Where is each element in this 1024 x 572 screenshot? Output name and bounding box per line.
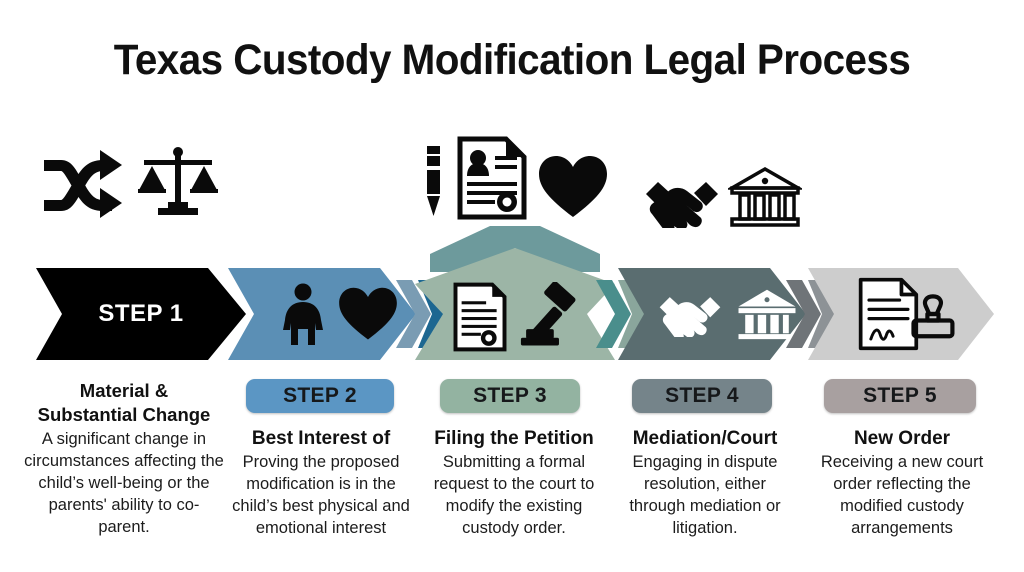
balance-scale-icon <box>136 144 220 220</box>
document-lines-icon <box>452 282 508 352</box>
step-5-description: Receiving a new court order reflecting t… <box>808 451 996 539</box>
step-4-top-icons <box>625 162 820 228</box>
step-4-heading: Mediation/Court <box>617 427 793 450</box>
step-5-band-content <box>808 268 1000 360</box>
step-1-band-content: STEP 1 <box>36 268 246 360</box>
handshake-icon <box>644 176 720 228</box>
step-2-description: Proving the proposed modification is in … <box>226 451 416 539</box>
heart-icon <box>337 286 399 342</box>
heart-icon <box>537 154 609 220</box>
step-2-band[interactable] <box>228 268 416 360</box>
signed-document-stamp-icon <box>855 276 959 352</box>
step-4-text: Mediation/Court Engaging in dispute reso… <box>617 427 793 539</box>
child-figure-icon <box>281 283 325 345</box>
step-3-text: Filing the Petition Submitting a formal … <box>424 427 604 539</box>
step-1-heading-line-2: Substantial Change <box>38 404 211 425</box>
step-3-top-icons <box>415 134 615 220</box>
step-2-pill-label: STEP 2 <box>283 384 357 408</box>
step-2-heading: Best Interest of <box>226 427 416 450</box>
step-4-description: Engaging in dispute resolution, either t… <box>617 451 793 539</box>
step-1-heading: Material & Substantial Change <box>24 379 224 427</box>
shuffle-arrows-icon <box>40 148 128 220</box>
step-1-text: Material & Substantial Change A signific… <box>24 379 224 538</box>
step-4-pill[interactable]: STEP 4 <box>632 379 772 413</box>
document-person-seal-icon <box>455 136 529 220</box>
step-1-description: A significant change in circumstances af… <box>24 428 224 538</box>
step-3-band[interactable] <box>415 248 615 360</box>
step-4-pill-label: STEP 4 <box>665 384 739 408</box>
step-5-pill[interactable]: STEP 5 <box>824 379 976 413</box>
step-5-text: New Order Receiving a new court order re… <box>808 427 996 539</box>
step-5-heading: New Order <box>808 427 996 450</box>
infographic-canvas: Texas Custody Modification Legal Process <box>0 0 1024 572</box>
step-3-band-content <box>415 274 615 360</box>
step-2-pill[interactable]: STEP 2 <box>246 379 394 413</box>
gavel-icon <box>514 282 578 352</box>
step-4-band[interactable] <box>618 268 806 360</box>
pen-icon <box>421 142 447 220</box>
step-1-band[interactable]: STEP 1 <box>36 268 246 360</box>
step-3-heading: Filing the Petition <box>424 427 604 450</box>
step-3-pill-label: STEP 3 <box>473 384 547 408</box>
step-5-band[interactable] <box>808 268 994 360</box>
step-3-pill[interactable]: STEP 3 <box>440 379 580 413</box>
step-3-description: Submitting a formal request to the court… <box>424 451 604 539</box>
handshake-icon <box>658 291 722 337</box>
step-1-heading-line-1: Material & <box>80 380 168 401</box>
step-1-band-label: STEP 1 <box>98 300 183 328</box>
step-5-pill-label: STEP 5 <box>863 384 937 408</box>
courthouse-icon <box>728 166 802 228</box>
step-1-top-icons <box>30 140 230 220</box>
step-2-text: Best Interest of Proving the proposed mo… <box>226 427 416 539</box>
page-title: Texas Custody Modification Legal Process <box>31 34 994 86</box>
